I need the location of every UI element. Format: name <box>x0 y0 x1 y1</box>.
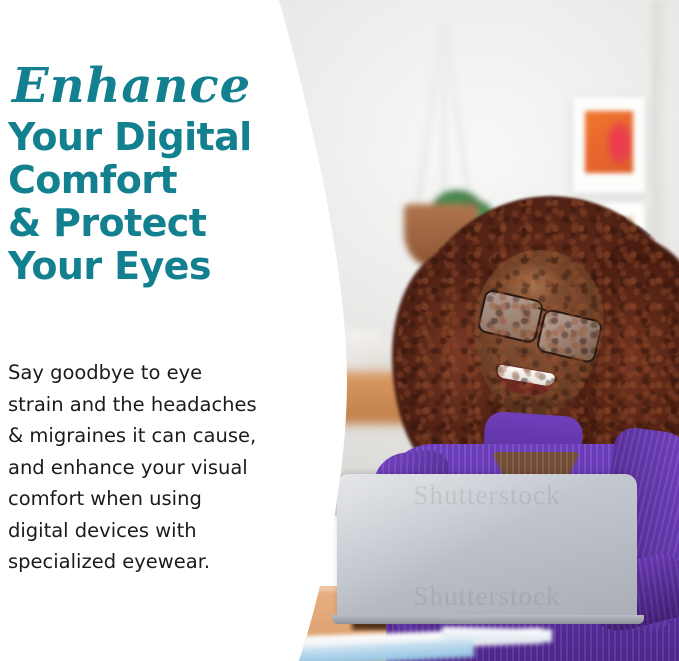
headline-line-4: Your Eyes <box>8 245 298 288</box>
body-line-2: strain and the headaches <box>8 389 300 421</box>
headline-line-3: & Protect <box>8 202 298 245</box>
body-copy: Say goodbye to eye strain and the headac… <box>8 357 300 578</box>
body-line-7: specialized eyewear. <box>8 546 300 578</box>
body-line-6: digital devices with <box>8 515 300 547</box>
headline-line-1: Your Digital <box>8 116 298 159</box>
text-column: Enhance Your Digital Comfort & Protect Y… <box>0 0 300 661</box>
body-line-5: comfort when using <box>8 483 300 515</box>
headline-line-2: Comfort <box>8 159 298 202</box>
headline-script-word: Enhance <box>12 62 298 110</box>
body-line-4: and enhance your visual <box>8 452 300 484</box>
body-line-3: & migraines it can cause, <box>8 420 300 452</box>
papers-on-desk <box>292 624 542 661</box>
promo-banner: Shutterstock Shutterstock Enhance Your D… <box>0 0 679 661</box>
laptop-lid-sheen <box>337 474 637 622</box>
laptop: Shutterstock Shutterstock <box>337 474 637 622</box>
page-title: Enhance Your Digital Comfort & Protect Y… <box>8 62 298 288</box>
body-line-1: Say goodbye to eye <box>8 357 300 389</box>
laptop-base <box>332 615 644 624</box>
